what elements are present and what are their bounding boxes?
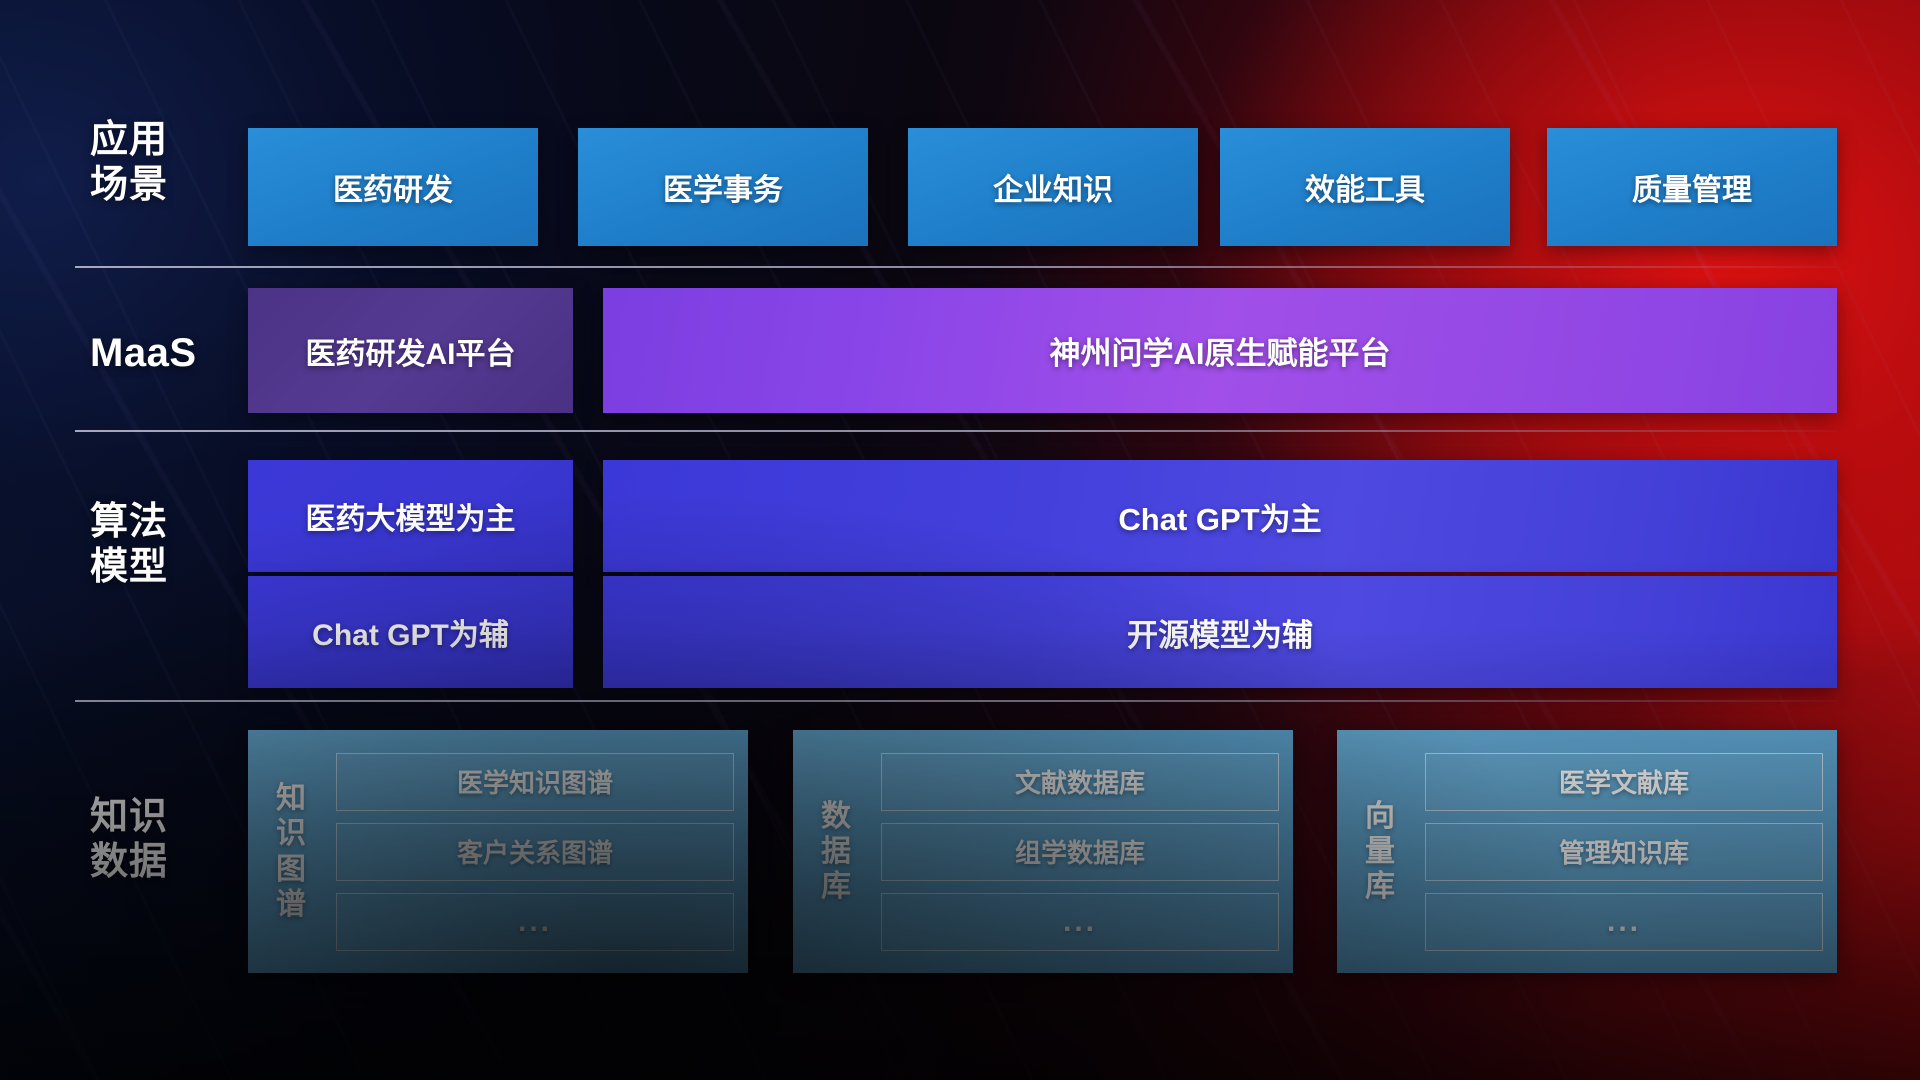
row-label-application-line2: 场景 [90, 163, 240, 208]
knowledge-group-vector-title: 向 量 库 [1347, 799, 1413, 904]
title-char: 谱 [276, 887, 306, 922]
title-char: 据 [821, 834, 851, 869]
app-box-4[interactable]: 效能工具 [1220, 128, 1510, 246]
row-label-application: 应用 场景 [90, 118, 240, 208]
knowledge-group-graph[interactable]: 知 识 图 谱 医学知识图谱 客户关系图谱 ... [248, 730, 748, 973]
app-box-1[interactable]: 医药研发 [248, 128, 538, 246]
algorithm-box-left-primary[interactable]: 医药大模型为主 [248, 460, 573, 572]
knowledge-group-vector[interactable]: 向 量 库 医学文献库 管理知识库 ... [1337, 730, 1837, 973]
row-label-knowledge: 知识 数据 [90, 795, 240, 885]
knowledge-item[interactable]: 医学文献库 [1425, 753, 1823, 811]
app-box-2[interactable]: 医学事务 [578, 128, 868, 246]
title-char: 识 [276, 816, 306, 851]
slide-canvas: 应用 场景 医药研发 医学事务 企业知识 效能工具 质量管理 MaaS 医药研发… [0, 0, 1920, 1080]
divider-application-maas [75, 266, 1837, 268]
row-label-knowledge-line2: 数据 [90, 840, 240, 885]
knowledge-item[interactable]: 医学知识图谱 [336, 753, 734, 811]
maas-box-shenzhou-platform[interactable]: 神州问学AI原生赋能平台 [603, 288, 1837, 413]
knowledge-item[interactable]: 管理知识库 [1425, 823, 1823, 881]
row-label-algorithm-line2: 模型 [90, 545, 240, 590]
knowledge-group-graph-title: 知 识 图 谱 [258, 781, 324, 921]
title-char: 库 [1365, 869, 1395, 904]
divider-maas-algorithm [75, 430, 1837, 432]
knowledge-group-database-title: 数 据 库 [803, 799, 869, 904]
knowledge-item[interactable]: 组学数据库 [881, 823, 1279, 881]
algorithm-box-right-secondary[interactable]: 开源模型为辅 [603, 576, 1837, 688]
knowledge-item-more[interactable]: ... [336, 893, 734, 951]
row-label-maas: MaaS [90, 330, 240, 377]
row-label-algorithm-line1: 算法 [90, 500, 240, 545]
title-char: 图 [276, 852, 306, 887]
app-box-3[interactable]: 企业知识 [908, 128, 1198, 246]
row-label-knowledge-line1: 知识 [90, 795, 240, 840]
title-char: 知 [276, 781, 306, 816]
knowledge-item[interactable]: 文献数据库 [881, 753, 1279, 811]
algorithm-box-right-primary[interactable]: Chat GPT为主 [603, 460, 1837, 572]
app-box-5[interactable]: 质量管理 [1547, 128, 1837, 246]
knowledge-group-database[interactable]: 数 据 库 文献数据库 组学数据库 ... [793, 730, 1293, 973]
row-label-application-line1: 应用 [90, 118, 240, 163]
knowledge-group-database-items: 文献数据库 组学数据库 ... [869, 753, 1279, 951]
title-char: 数 [821, 799, 851, 834]
knowledge-item[interactable]: 客户关系图谱 [336, 823, 734, 881]
title-char: 库 [821, 869, 851, 904]
knowledge-group-vector-items: 医学文献库 管理知识库 ... [1413, 753, 1823, 951]
knowledge-group-graph-items: 医学知识图谱 客户关系图谱 ... [324, 753, 734, 951]
title-char: 量 [1365, 834, 1395, 869]
divider-algorithm-knowledge [75, 700, 1837, 702]
title-char: 向 [1365, 799, 1395, 834]
maas-box-medical-ai-platform[interactable]: 医药研发AI平台 [248, 288, 573, 413]
knowledge-item-more[interactable]: ... [1425, 893, 1823, 951]
knowledge-item-more[interactable]: ... [881, 893, 1279, 951]
algorithm-box-left-secondary[interactable]: Chat GPT为辅 [248, 576, 573, 688]
row-label-algorithm: 算法 模型 [90, 500, 240, 590]
